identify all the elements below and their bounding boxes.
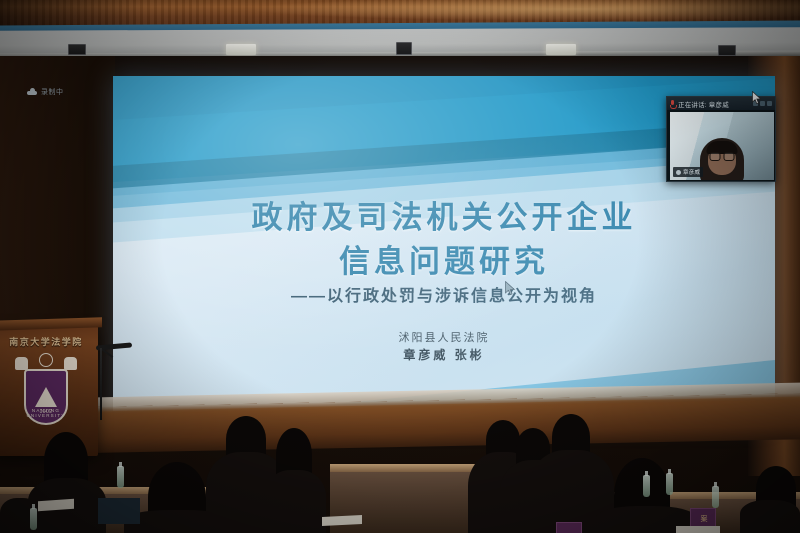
microphone-icon bbox=[670, 100, 675, 108]
video-participant-body bbox=[700, 138, 744, 180]
conference-room-scene: 录制中 政府及司法机关公开企业 信息问题研究 ——以行政处罚与涉诉信息公开为视角… bbox=[0, 0, 800, 533]
slide-title-line-2: 信息问题研究 bbox=[113, 240, 775, 284]
recording-indicator: 录制中 bbox=[27, 87, 64, 97]
participant-name: 章彦威 bbox=[683, 168, 700, 176]
slide-subtitle: ——以行政处罚与涉诉信息公开为视角 bbox=[113, 282, 775, 306]
audience-shoulders bbox=[264, 470, 326, 533]
crest-lion-left-icon bbox=[15, 357, 28, 370]
printed-handout bbox=[676, 526, 720, 533]
crest-ring-text: NANJING UNIVERSITY bbox=[26, 408, 66, 418]
slide-title: 政府及司法机关公开企业 信息问题研究 bbox=[113, 196, 775, 284]
close-icon[interactable] bbox=[767, 101, 772, 106]
recording-label: 录制中 bbox=[41, 87, 64, 97]
folder-label: 案 bbox=[698, 515, 708, 522]
slide-title-line-1: 政府及司法机关公开企业 bbox=[113, 196, 775, 240]
water-bottle bbox=[30, 508, 37, 530]
lectern: 南京大学法学院 1902 NANJING UNIVERSITY bbox=[0, 326, 98, 456]
ceiling-light-3 bbox=[396, 42, 412, 55]
active-speaker-label: 正在讲话: 章彦威 bbox=[678, 99, 729, 109]
crest-shield: 1902 NANJING UNIVERSITY bbox=[24, 369, 68, 425]
crest-emblem-icon bbox=[39, 353, 53, 367]
glasses-icon bbox=[710, 152, 735, 159]
video-feed[interactable]: 章彦威 bbox=[670, 112, 774, 180]
microphone-stand bbox=[100, 348, 102, 420]
ceiling-light-5 bbox=[718, 45, 736, 56]
audience-shoulders bbox=[740, 500, 800, 533]
water-bottle bbox=[666, 473, 673, 495]
video-conference-panel[interactable]: 正在讲话: 章彦威 章彦威 bbox=[666, 96, 776, 182]
pagoda-icon bbox=[35, 387, 57, 407]
cloud-icon bbox=[27, 89, 37, 95]
laptop bbox=[98, 498, 140, 524]
lectern-engraving: 南京大学法学院 bbox=[0, 335, 98, 348]
university-crest: 1902 NANJING UNIVERSITY bbox=[15, 353, 77, 427]
water-bottle bbox=[117, 466, 124, 488]
water-bottle bbox=[643, 475, 650, 497]
crest-lion-right-icon bbox=[64, 357, 77, 370]
left-wall-panel bbox=[0, 56, 115, 356]
document-folder bbox=[556, 522, 582, 533]
lectern-top bbox=[0, 317, 102, 331]
ceiling-light-2 bbox=[226, 44, 256, 55]
slide-authors: 章彦威 张彬 bbox=[113, 346, 775, 363]
water-bottle bbox=[712, 486, 719, 508]
slide-organization: 沭阳县人民法院 bbox=[113, 330, 775, 347]
ceiling-light-4 bbox=[546, 44, 576, 55]
ceiling-light-1 bbox=[68, 44, 86, 55]
participant-name-tag: 章彦威 bbox=[673, 167, 703, 177]
user-icon bbox=[676, 170, 681, 175]
